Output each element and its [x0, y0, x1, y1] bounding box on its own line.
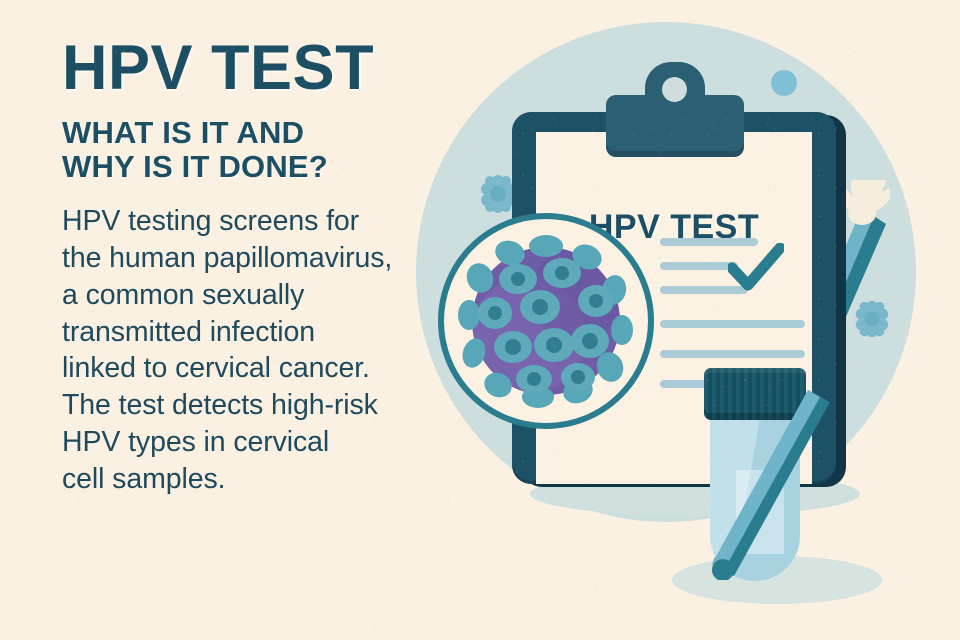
infographic-canvas: HPV TEST	[0, 0, 960, 640]
magnifier-icon	[438, 213, 654, 429]
virus-icon	[458, 233, 634, 409]
body-paragraph: HPV testing screens for the human papill…	[62, 203, 457, 497]
text-column: HPV TEST WHAT IS IT AND WHY IS IT DONE? …	[62, 38, 457, 497]
swab-stick-overlay-icon	[690, 180, 890, 580]
clip-base-icon	[606, 95, 744, 157]
page-title: HPV TEST	[62, 38, 457, 98]
page-subtitle: WHAT IS IT AND WHY IS IT DONE?	[62, 116, 457, 183]
clip-hole-icon	[662, 77, 687, 102]
